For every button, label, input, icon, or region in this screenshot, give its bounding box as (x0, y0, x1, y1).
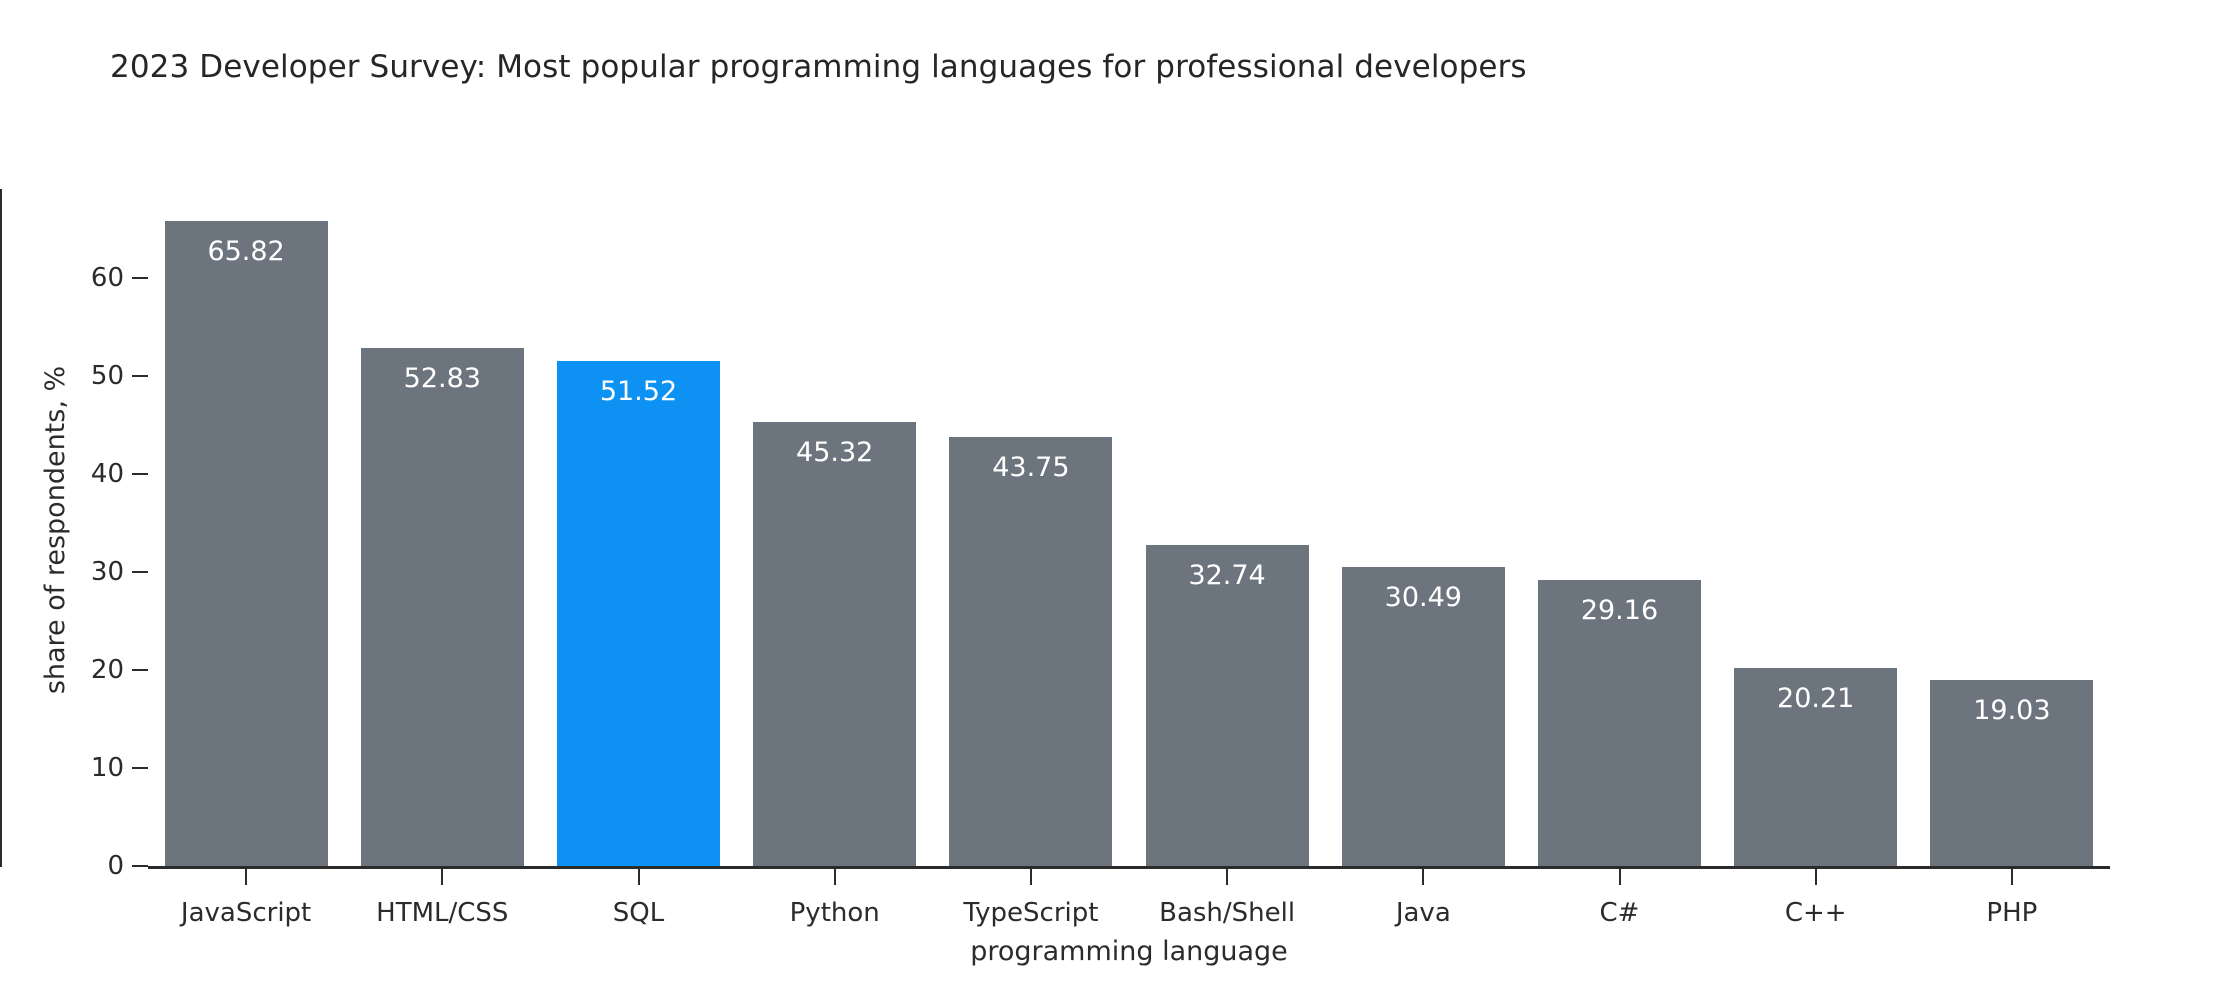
bar[interactable]: 19.03 (1930, 680, 2093, 866)
x-tick-mark (245, 869, 247, 885)
bar[interactable]: 29.16 (1538, 580, 1701, 866)
x-tick-label: Java (1396, 900, 1451, 926)
y-tick-label: 60 (91, 265, 124, 291)
plot-area: 65.8252.8351.5245.3243.7532.7430.4929.16… (148, 189, 2110, 866)
bar-value-label: 30.49 (1342, 584, 1505, 611)
bar-value-label: 43.75 (949, 454, 1112, 481)
x-tick-mark (1030, 869, 1032, 885)
bar[interactable]: 20.21 (1734, 668, 1897, 866)
x-tick-mark (1422, 869, 1424, 885)
bar-value-label: 45.32 (753, 439, 916, 466)
chart-figure: 2023 Developer Survey: Most popular prog… (0, 0, 2226, 1002)
y-tick-mark (132, 473, 148, 475)
y-tick-label: 30 (91, 559, 124, 585)
bar-value-label: 29.16 (1538, 597, 1701, 624)
bar-value-label: 32.74 (1146, 562, 1309, 589)
y-tick-label: 10 (91, 755, 124, 781)
bar-value-label: 65.82 (165, 238, 328, 265)
bar-value-label: 20.21 (1734, 685, 1897, 712)
chart-title: 2023 Developer Survey: Most popular prog… (110, 48, 1527, 86)
y-tick-label: 20 (91, 657, 124, 683)
x-tick-mark (638, 869, 640, 885)
y-tick-mark (132, 375, 148, 377)
x-tick-label: SQL (613, 900, 664, 926)
y-tick-mark (132, 571, 148, 573)
x-tick-mark (1226, 869, 1228, 885)
y-axis-title: share of respondents, % (42, 180, 69, 880)
bar[interactable]: 43.75 (949, 437, 1112, 866)
bar[interactable]: 51.52 (557, 361, 720, 866)
bar[interactable]: 32.74 (1146, 545, 1309, 866)
x-tick-mark (1815, 869, 1817, 885)
y-tick-mark (132, 767, 148, 769)
x-tick-label: HTML/CSS (376, 900, 508, 926)
x-tick-mark (1619, 869, 1621, 885)
bar-value-label: 52.83 (361, 365, 524, 392)
x-axis-title: programming language (148, 938, 2110, 965)
x-tick-label: PHP (1986, 900, 2037, 926)
y-tick-label: 50 (91, 363, 124, 389)
bar[interactable]: 52.83 (361, 348, 524, 866)
x-tick-mark (441, 869, 443, 885)
bar[interactable]: 45.32 (753, 422, 916, 866)
x-tick-label: TypeScript (963, 900, 1098, 926)
x-tick-mark (2011, 869, 2013, 885)
bar[interactable]: 30.49 (1342, 567, 1505, 866)
y-axis-spine (0, 189, 2, 867)
x-tick-mark (834, 869, 836, 885)
y-tick-mark (132, 277, 148, 279)
x-tick-label: JavaScript (181, 900, 311, 926)
x-tick-label: Python (790, 900, 880, 926)
y-tick-mark (132, 669, 148, 671)
bar[interactable]: 65.82 (165, 221, 328, 866)
bar-value-label: 51.52 (557, 378, 720, 405)
x-tick-label: Bash/Shell (1159, 900, 1295, 926)
y-tick-mark (132, 865, 148, 867)
x-tick-label: C# (1600, 900, 1640, 926)
y-tick-label: 40 (91, 461, 124, 487)
bar-value-label: 19.03 (1930, 697, 2093, 724)
y-tick-label: 0 (107, 853, 124, 879)
x-tick-label: C++ (1785, 900, 1847, 926)
